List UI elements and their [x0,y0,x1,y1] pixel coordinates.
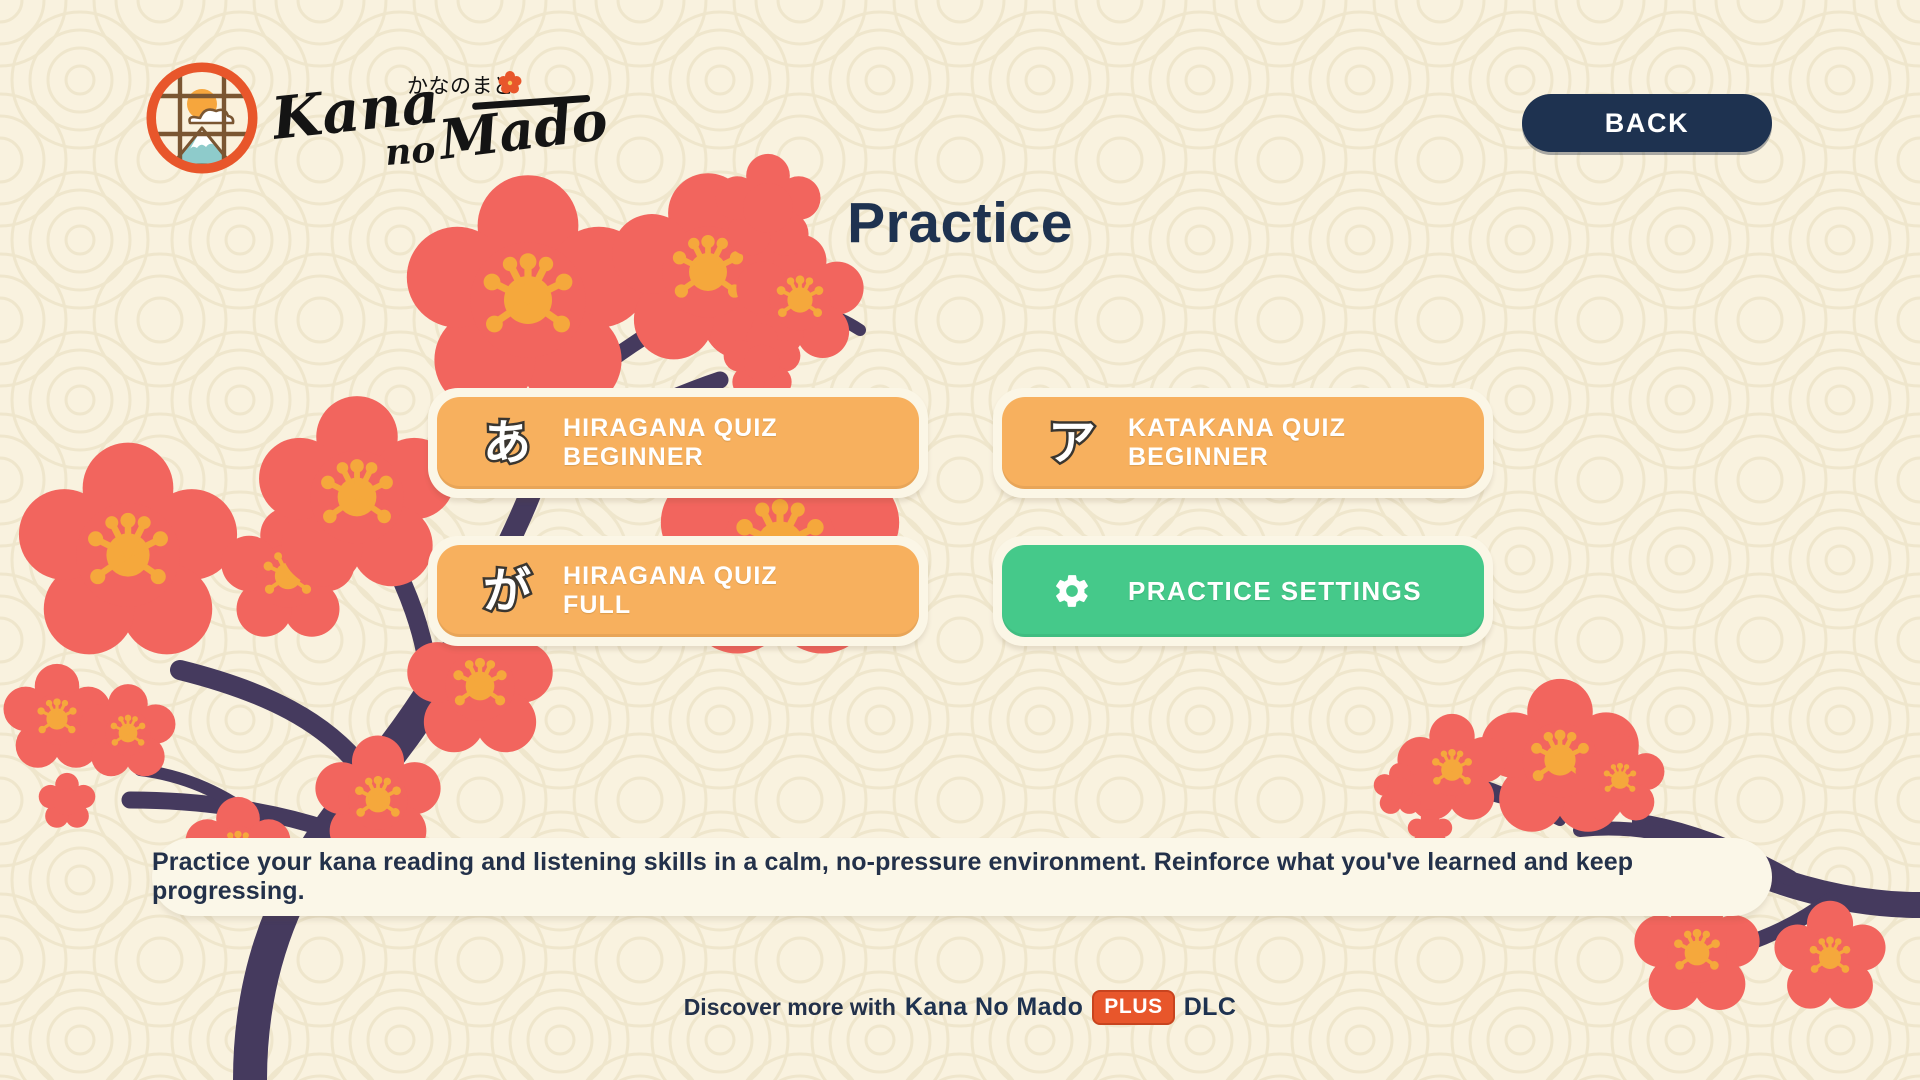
practice-settings-button[interactable]: PRACTICE SETTINGS [993,536,1493,646]
menu-item-label-line2: BEGINNER [563,443,778,473]
dlc-footer: Discover more with Kana No Mado PLUS DLC [0,990,1920,1025]
gear-icon [1030,571,1114,611]
hiragana-quiz-full-button[interactable]: が HIRAGANA QUIZ FULL [428,536,928,646]
logo-wordmark: かなのまど Kana no Mado [274,63,614,173]
back-button-label: BACK [1605,108,1689,139]
hiragana-a-icon: あ [465,419,549,467]
menu-item-label-line1: HIRAGANA QUIZ [563,414,778,444]
plus-badge[interactable]: PLUS [1092,990,1174,1025]
menu-item-label-line1: HIRAGANA QUIZ [563,562,778,592]
hiragana-ga-icon: が [465,567,549,615]
hiragana-quiz-beginner-button[interactable]: あ HIRAGANA QUIZ BEGINNER [428,388,928,498]
description-bar: Practice your kana reading and listening… [152,838,1772,916]
window-fuji-logo-icon [146,62,258,174]
header: かなのまど Kana no Mado BACK [0,0,1920,230]
dlc-suffix-text: DLC [1184,993,1237,1022]
practice-settings-label: PRACTICE SETTINGS [1128,576,1422,607]
menu-item-label-line2: BEGINNER [1128,443,1346,473]
dlc-brand-text: Kana No Mado [905,993,1083,1022]
back-button[interactable]: BACK [1522,94,1772,152]
menu-item-label-line1: KATAKANA QUIZ [1128,414,1346,444]
dlc-prefix-text: Discover more with [684,994,896,1021]
katakana-quiz-beginner-button[interactable]: ア KATAKANA QUIZ BEGINNER [993,388,1493,498]
svg-text:no: no [384,129,437,173]
menu-item-label-line2: FULL [563,591,778,621]
app-logo[interactable]: かなのまど Kana no Mado [146,62,614,174]
katakana-a-icon: ア [1030,419,1114,467]
practice-menu-grid: あ HIRAGANA QUIZ BEGINNER ア KATAKANA QUIZ… [428,388,1493,646]
description-text: Practice your kana reading and listening… [152,848,1772,906]
